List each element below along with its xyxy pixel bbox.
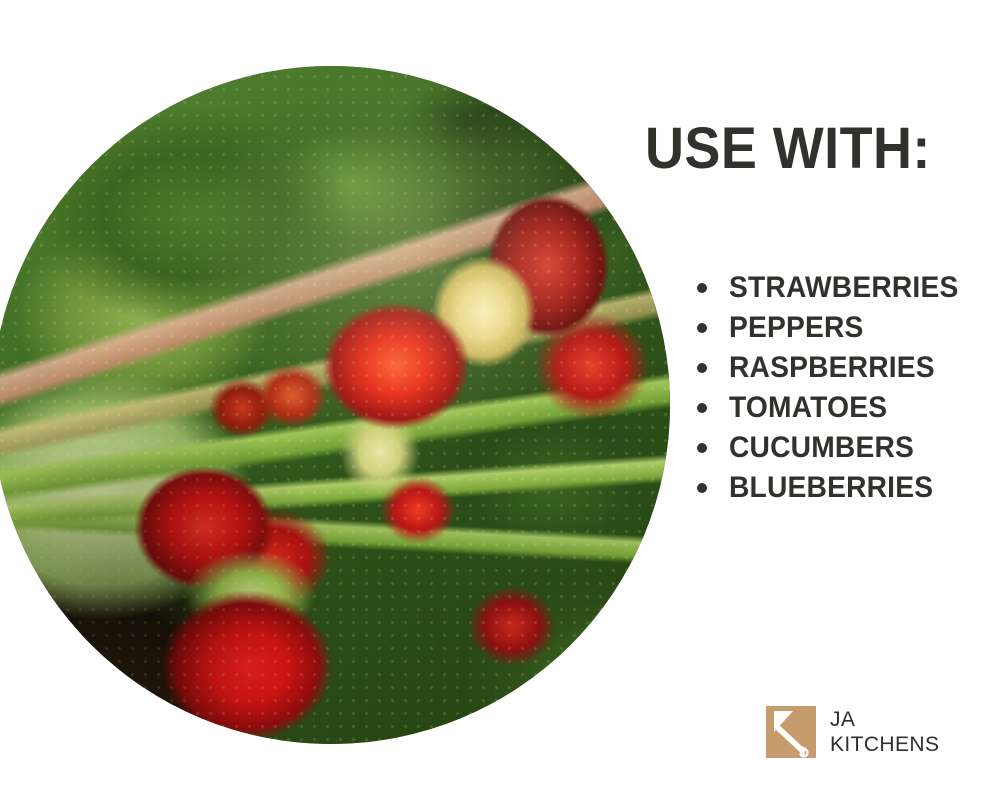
list-item-label: TOMATOES [729,391,887,425]
list-item: PEPPERS [697,308,973,348]
list-item: RASPBERRIES [697,348,973,388]
poster-canvas: USE WITH: STRAWBERRIES PEPPERS RASPBERRI… [0,0,1000,800]
list-item-label: RASPBERRIES [729,351,935,385]
list-item: STRAWBERRIES [697,268,973,308]
list-item-label: PEPPERS [729,311,864,345]
list-item-label: STRAWBERRIES [729,271,958,305]
use-with-list: STRAWBERRIES PEPPERS RASPBERRIES TOMATOE… [697,268,973,508]
list-item-label: BLUEBERRIES [729,471,933,505]
strawberry-plant-photo [0,66,670,744]
brand-name-line2: KITCHENS [830,732,939,757]
bullet-icon [697,363,707,373]
bullet-icon [697,323,707,333]
list-item: CUCUMBERS [697,428,973,468]
list-item: TOMATOES [697,388,973,428]
brand-logo-text: JA KITCHENS [830,707,939,757]
bullet-icon [697,483,707,493]
brand-name-line1: JA [830,707,939,732]
ja-kitchens-logo-icon [766,706,816,758]
bullet-icon [697,443,707,453]
page-title: USE WITH: [645,120,931,178]
list-item-label: CUCUMBERS [729,431,914,465]
brand-logo: JA KITCHENS [766,706,939,758]
bullet-icon [697,403,707,413]
list-item: BLUEBERRIES [697,468,973,508]
photo-lighting-overlay [0,66,670,744]
bullet-icon [697,283,707,293]
